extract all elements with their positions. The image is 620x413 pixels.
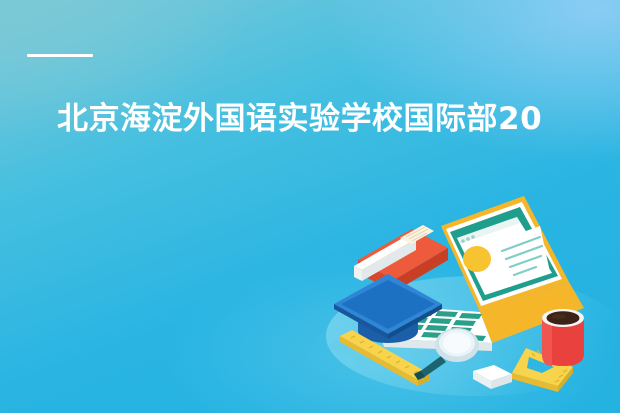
education-desk-illustration [326,196,620,413]
accent-rule [27,54,93,57]
banner-title: 北京海淀外国语实验学校国际部20 [57,99,620,139]
coffee-mug-icon [542,309,584,366]
banner-canvas: 北京海淀外国语实验学校国际部20 [0,0,620,413]
